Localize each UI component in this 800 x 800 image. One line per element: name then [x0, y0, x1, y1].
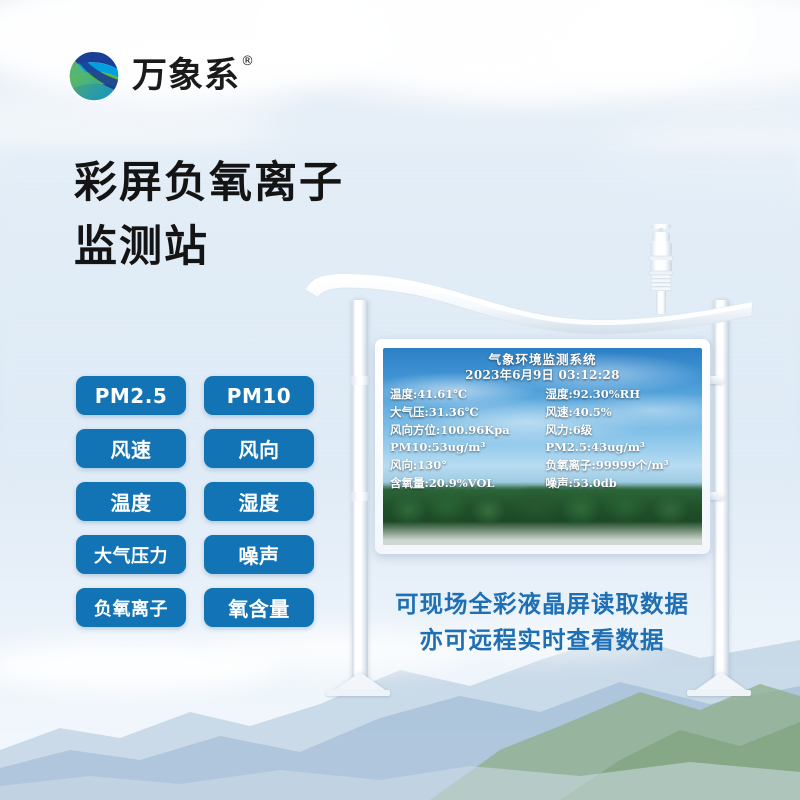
- lcd-row: PM10:53ug/m³ PM2.5:43ug/m³: [390, 439, 695, 456]
- lcd-value-wind-bearing: 风向方位:100.96Kpa: [390, 422, 540, 439]
- lcd-value-temperature: 温度:41.61℃: [390, 386, 540, 403]
- feature-tag-pm10[interactable]: PM10: [204, 376, 314, 415]
- feature-tag-pm25[interactable]: PM2.5: [76, 376, 186, 415]
- lcd-value-wind-direction: 风向:130°: [390, 457, 540, 474]
- feature-tag-wind-dir[interactable]: 风向: [204, 429, 314, 468]
- lcd-readout: 气象环境监测系统 2023年6月9日 03:12:28 温度:41.61℃ 湿度…: [383, 348, 702, 545]
- lcd-title: 气象环境监测系统: [390, 352, 695, 368]
- lcd-value-air-pressure: 大气压:31.36℃: [390, 404, 540, 421]
- globe-swirl-icon: [66, 48, 122, 104]
- brand-logo: 万象系®: [66, 48, 240, 104]
- feature-tag-oxygen[interactable]: 氧含量: [204, 588, 314, 627]
- lcd-screen[interactable]: 气象环境监测系统 2023年6月9日 03:12:28 温度:41.61℃ 湿度…: [383, 348, 702, 545]
- lcd-value-noise: 噪声:53.0db: [540, 475, 696, 492]
- lcd-row: 大气压:31.36℃ 风速:40.5%: [390, 404, 695, 421]
- feature-caption: 可现场全彩液晶屏读取数据 亦可远程实时查看数据: [382, 586, 702, 659]
- lcd-value-wind-speed: 风速:40.5%: [540, 404, 696, 421]
- feature-tag-air-pressure[interactable]: 大气压力: [76, 535, 186, 574]
- brand-name: 万象系®: [132, 59, 240, 94]
- product-poster: 万象系® 彩屏负氧离子 监测站 PM2.5 PM10 风速 风向 温度 湿度 大…: [0, 0, 800, 800]
- page-title: 彩屏负氧离子 监测站: [74, 152, 344, 279]
- registered-mark: ®: [241, 55, 255, 68]
- feature-tag-humidity[interactable]: 湿度: [204, 482, 314, 521]
- lcd-row: 风向方位:100.96Kpa 风力:6级: [390, 422, 695, 439]
- lcd-row: 温度:41.61℃ 湿度:92.30%RH: [390, 386, 695, 403]
- lcd-datetime: 2023年6月9日 03:12:28: [390, 368, 695, 384]
- feature-tag-grid: PM2.5 PM10 风速 风向 温度 湿度 大气压力 噪声 负氧离子 氧含量: [76, 376, 314, 627]
- lcd-display-panel[interactable]: 气象环境监测系统 2023年6月9日 03:12:28 温度:41.61℃ 湿度…: [375, 339, 710, 554]
- feature-tag-temperature[interactable]: 温度: [76, 482, 186, 521]
- feature-tag-wind-speed[interactable]: 风速: [76, 429, 186, 468]
- lcd-row: 含氧量:20.9%VOL 噪声:53.0db: [390, 475, 695, 492]
- lcd-value-oxygen: 含氧量:20.9%VOL: [390, 475, 540, 492]
- lcd-value-anion: 负氧离子:99999个/m³: [540, 457, 696, 474]
- cloud-wisp: [0, 96, 280, 156]
- cloud-wisp: [420, 36, 720, 98]
- lcd-value-pm10: PM10:53ug/m³: [390, 439, 540, 456]
- lcd-value-wind-force: 风力:6级: [540, 422, 696, 439]
- brand-name-text: 万象系: [132, 56, 240, 96]
- lcd-row: 风向:130° 负氧离子:99999个/m³: [390, 457, 695, 474]
- lcd-measurement-rows: 温度:41.61℃ 湿度:92.30%RH 大气压:31.36℃ 风速:40.5…: [390, 386, 695, 491]
- lcd-value-pm25: PM2.5:43ug/m³: [540, 439, 696, 456]
- feature-tag-noise[interactable]: 噪声: [204, 535, 314, 574]
- lcd-value-humidity: 湿度:92.30%RH: [540, 386, 696, 403]
- feature-tag-anion[interactable]: 负氧离子: [76, 588, 186, 627]
